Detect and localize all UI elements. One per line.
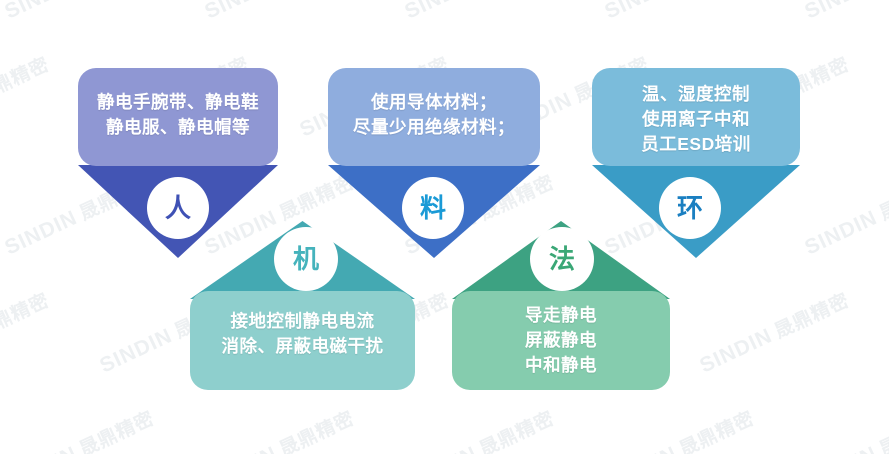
watermark-text: SINDIN晟鼎精密 (400, 403, 558, 454)
watermark-text: SINDIN晟鼎精密 (200, 403, 358, 454)
pin-huan-text: 温、湿度控制 使用离子中和 员工ESD培训 (592, 82, 800, 157)
badge-liao-label: 料 (420, 195, 446, 221)
badge-fa[interactable]: 法 (530, 227, 594, 291)
badge-fa-label: 法 (549, 246, 575, 272)
watermark-text: SINDIN晟鼎精密 (200, 0, 358, 24)
watermark-text: SINDIN晟鼎精密 (600, 403, 758, 454)
watermark-text: SINDIN晟鼎精密 (800, 167, 889, 260)
watermark-text: SINDIN晟鼎精密 (0, 49, 53, 142)
watermark-text: SINDIN晟鼎精密 (800, 403, 889, 454)
badge-huan-label: 环 (677, 195, 703, 221)
watermark-text: SINDIN晟鼎精密 (0, 0, 158, 24)
badge-ren-label: 人 (165, 195, 191, 221)
pin-liao-text: 使用导体材料； 尽量少用绝缘材料； (328, 90, 540, 140)
badge-ji-label: 机 (293, 246, 319, 272)
watermark-text: SINDIN晟鼎精密 (600, 0, 758, 24)
watermark-text: SINDIN晟鼎精密 (800, 0, 889, 24)
badge-ji[interactable]: 机 (274, 227, 338, 291)
watermark-text: SINDIN晟鼎精密 (400, 0, 558, 24)
pin-ji-text: 接地控制静电电流 消除、屏蔽电磁干扰 (190, 309, 415, 359)
diagram-canvas: SINDIN晟鼎精密SINDIN晟鼎精密SINDIN晟鼎精密SINDIN晟鼎精密… (0, 0, 889, 454)
watermark-text: SINDIN晟鼎精密 (0, 285, 53, 378)
pin-fa-text: 导走静电 屏蔽静电 中和静电 (452, 303, 670, 378)
watermark-text: SINDIN晟鼎精密 (0, 403, 158, 454)
watermark-text: SINDIN晟鼎精密 (695, 285, 853, 378)
pin-ren-text: 静电手腕带、静电鞋 静电服、静电帽等 (78, 90, 278, 140)
